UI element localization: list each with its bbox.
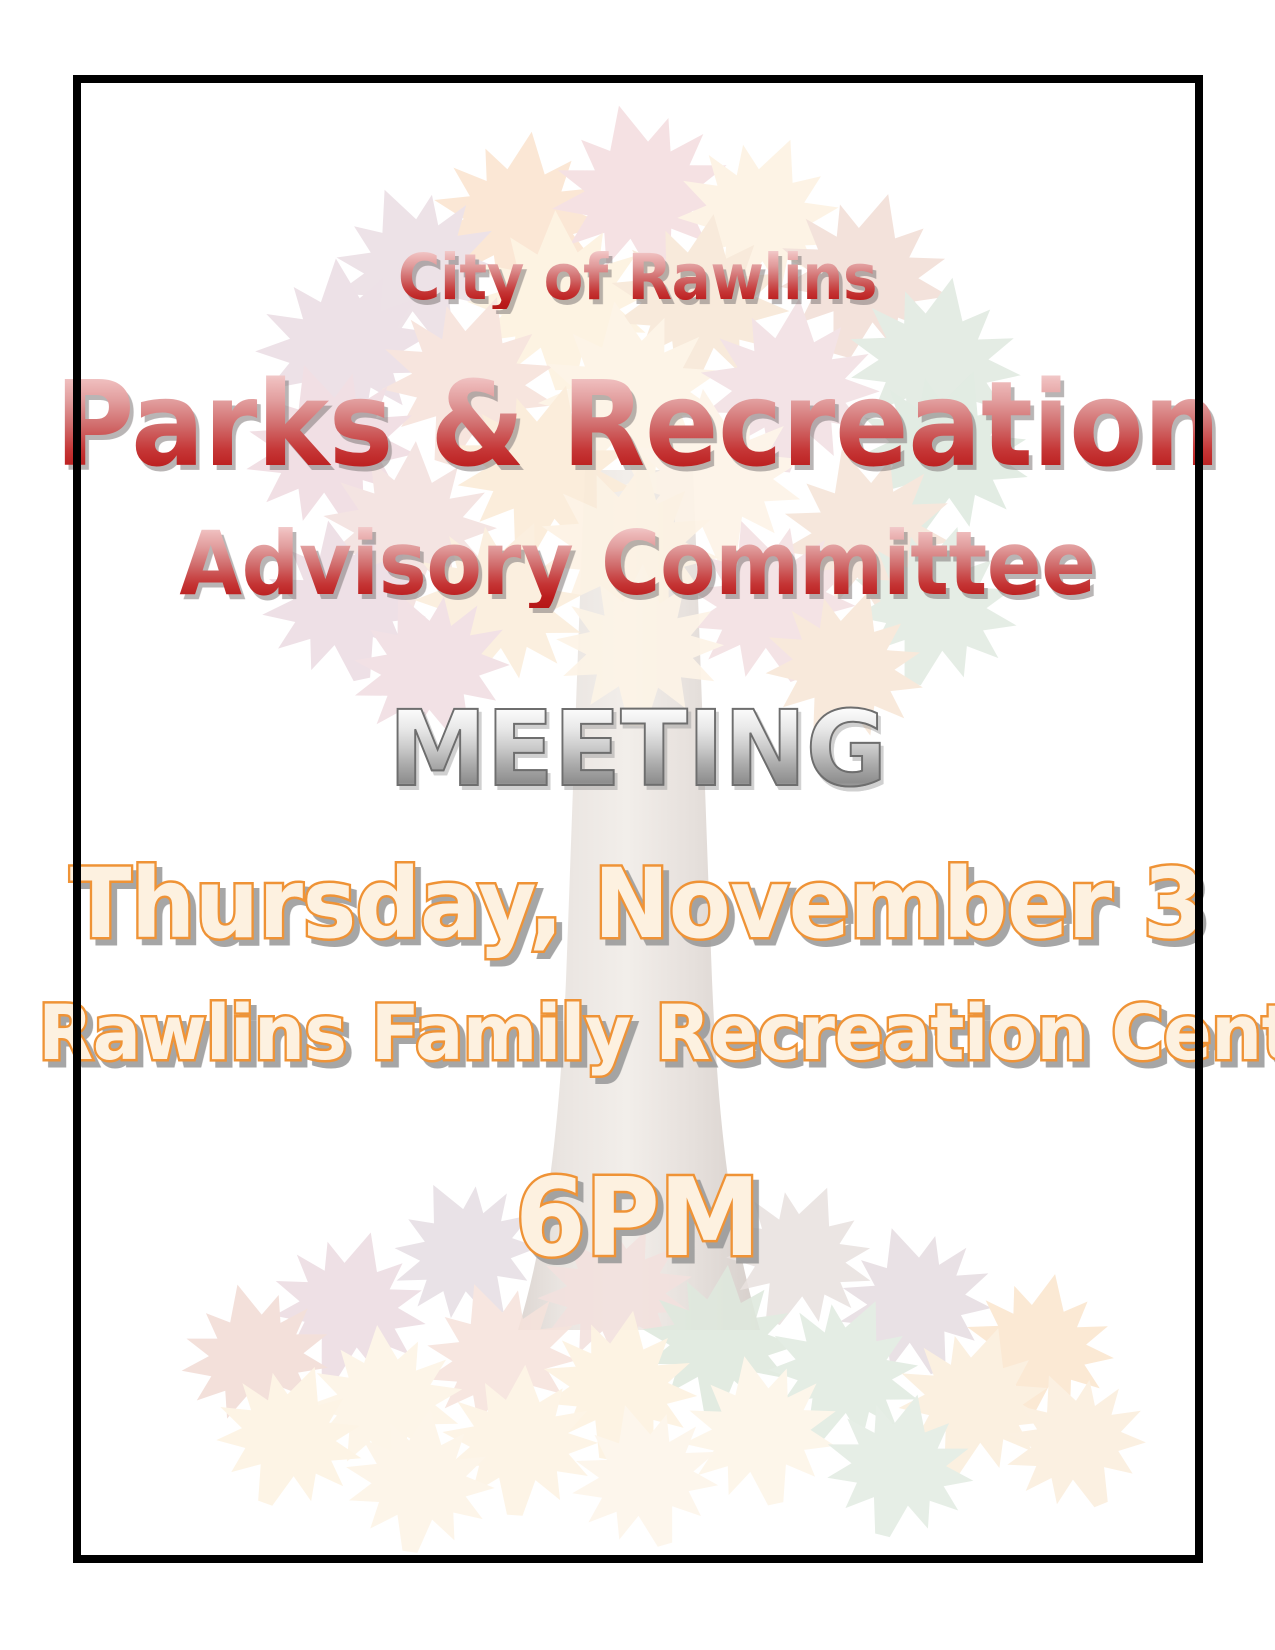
event-type-heading: MEETING xyxy=(32,697,1243,801)
event-date: Thursday, November 3 xyxy=(38,856,1237,952)
event-time: 6PM xyxy=(38,1165,1237,1273)
committee-name: Advisory Committee xyxy=(51,520,1224,608)
department-title: Parks & Recreation xyxy=(51,365,1224,483)
flyer-poster: City of Rawlins Parks & Recreation Advis… xyxy=(0,0,1275,1650)
event-venue: Rawlins Family Recreation Center xyxy=(38,995,1237,1071)
organization-line: City of Rawlins xyxy=(51,246,1224,309)
